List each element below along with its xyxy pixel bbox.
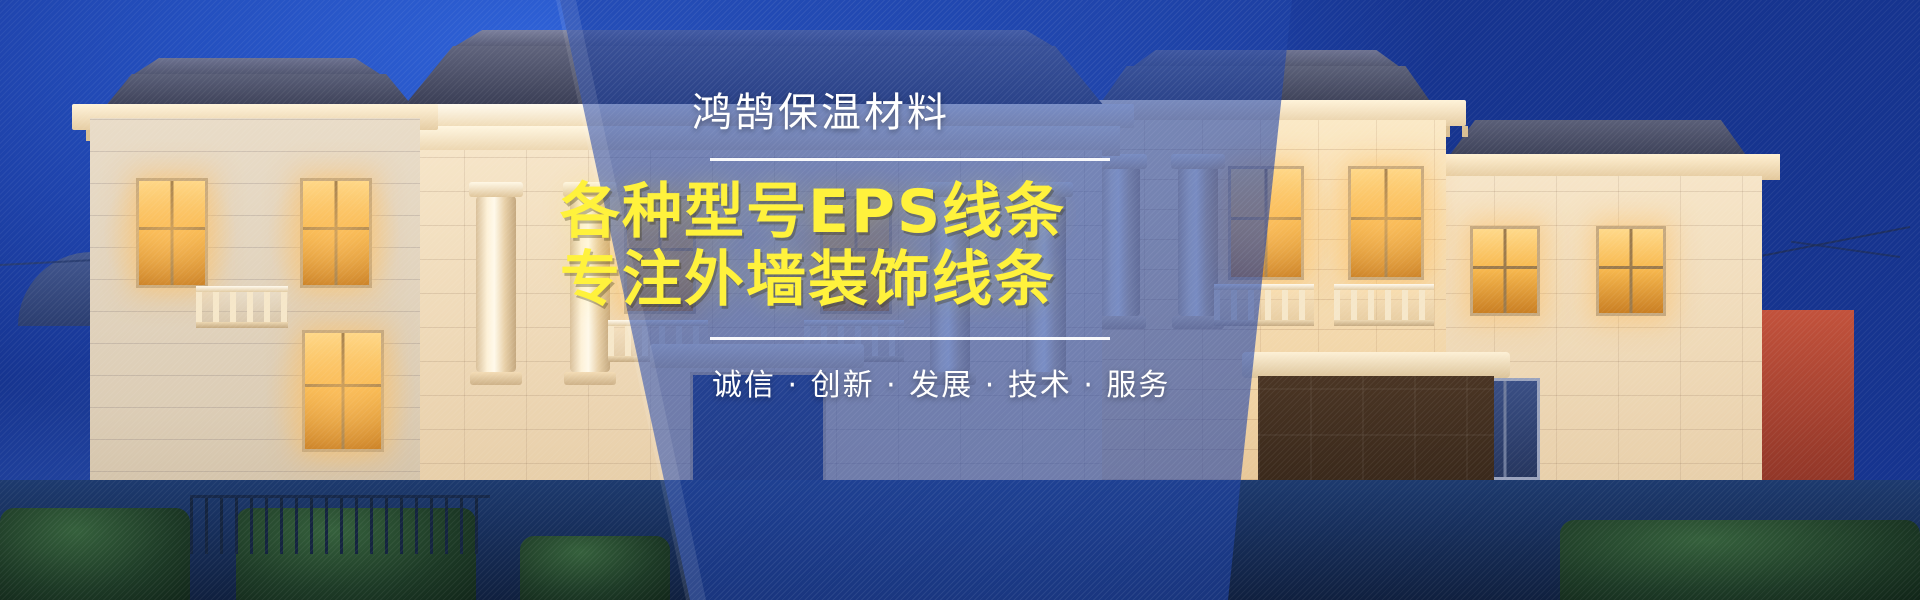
balustrade xyxy=(196,292,288,322)
window-glow xyxy=(104,164,236,306)
tree-branch-2 xyxy=(1791,241,1900,258)
window-glow xyxy=(266,316,416,472)
window xyxy=(1596,226,1666,316)
brand-name: 鸿鹄保温材料 xyxy=(692,92,1320,134)
iron-railing xyxy=(190,495,490,554)
balustrade-base xyxy=(196,322,288,328)
left-wing-roof xyxy=(104,74,414,108)
divider-top xyxy=(710,158,1110,161)
hero-banner: 鸿鹄保温材料 各种型号EPS线条 专注外墙装饰线条 诚信 · 创新 · 发展 ·… xyxy=(0,0,1920,600)
tree-branch xyxy=(1763,226,1911,257)
column xyxy=(476,196,516,372)
right-stub-roof xyxy=(1448,120,1748,158)
hedge xyxy=(1560,520,1920,600)
divider-bottom xyxy=(710,337,1110,340)
headline: 各种型号EPS线条 专注外墙装饰线条 xyxy=(560,179,1320,315)
window-glow xyxy=(1316,150,1456,300)
red-container xyxy=(1762,310,1854,490)
window-glow xyxy=(268,164,400,306)
hedge xyxy=(520,536,670,600)
balustrade xyxy=(1334,290,1434,320)
headline-line-2: 专注外墙装饰线条 xyxy=(560,247,1320,315)
window xyxy=(1470,226,1540,316)
column-base xyxy=(470,372,522,385)
column-capital xyxy=(469,182,523,197)
balustrade-base xyxy=(1334,320,1434,326)
headline-line-1: 各种型号EPS线条 xyxy=(560,177,1066,247)
tagline: 诚信 · 创新 · 发展 · 技术 · 服务 xyxy=(712,360,1320,404)
hedge xyxy=(0,508,190,600)
banner-text-block: 鸿鹄保温材料 各种型号EPS线条 专注外墙装饰线条 诚信 · 创新 · 发展 ·… xyxy=(560,92,1320,404)
